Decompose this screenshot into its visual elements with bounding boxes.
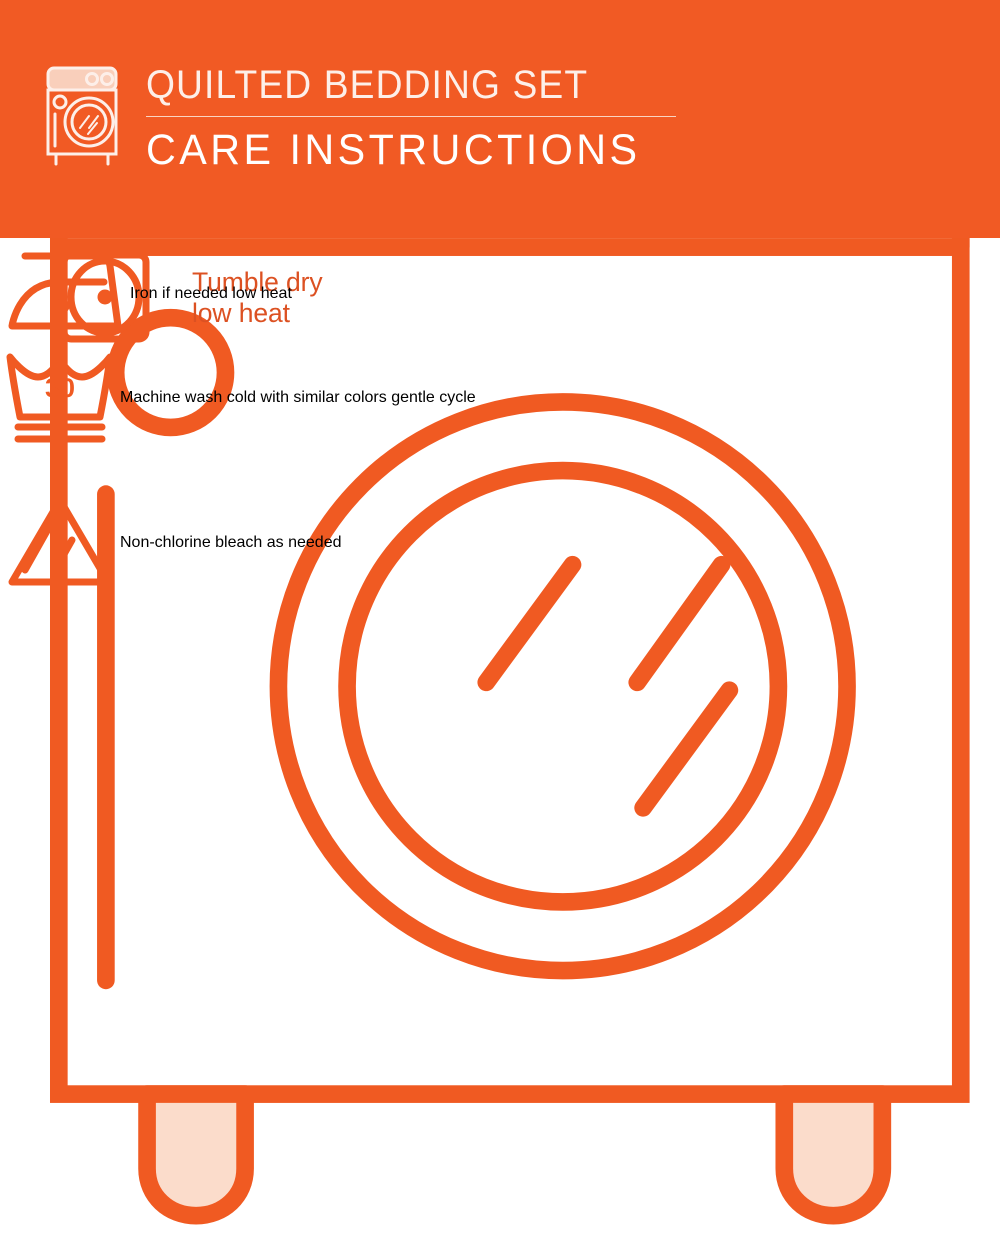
- iron-icon: [0, 238, 130, 349]
- machine-leg-right: [784, 1094, 882, 1216]
- care-item-text: Non-chlorine bleach as needed: [120, 534, 341, 552]
- page-subtitle: CARE INSTRUCTIONS: [146, 125, 641, 175]
- machine-door-reflections: [486, 565, 729, 808]
- title-divider: [146, 116, 676, 117]
- care-instruction-list: 30 Machine wash cold with similar colors…: [0, 238, 500, 1000]
- care-item-text: Machine wash cold with similar colors ge…: [120, 389, 476, 407]
- care-item-iron: Iron if needed low heat: [0, 238, 500, 349]
- header-titles: QUILTED BEDDING SET CARE INSTRUCTIONS: [146, 62, 676, 175]
- page-title: QUILTED BEDDING SET: [146, 62, 588, 110]
- wash-tub-30-icon: 30: [0, 343, 120, 454]
- bleach-triangle-icon: [0, 488, 120, 599]
- header-band: QUILTED BEDDING SET CARE INSTRUCTIONS: [0, 0, 1000, 238]
- care-instructions-page: QUILTED BEDDING SET CARE INSTRUCTIONS 30: [0, 0, 1000, 1000]
- header-content: QUILTED BEDDING SET CARE INSTRUCTIONS: [42, 62, 676, 175]
- care-item-text: Iron if needed low heat: [130, 285, 292, 303]
- washing-machine-icon: [42, 62, 128, 172]
- care-item-bleach: Non-chlorine bleach as needed: [0, 478, 500, 608]
- wash-temperature-label: 30: [45, 373, 75, 403]
- machine-leg-left: [147, 1094, 245, 1216]
